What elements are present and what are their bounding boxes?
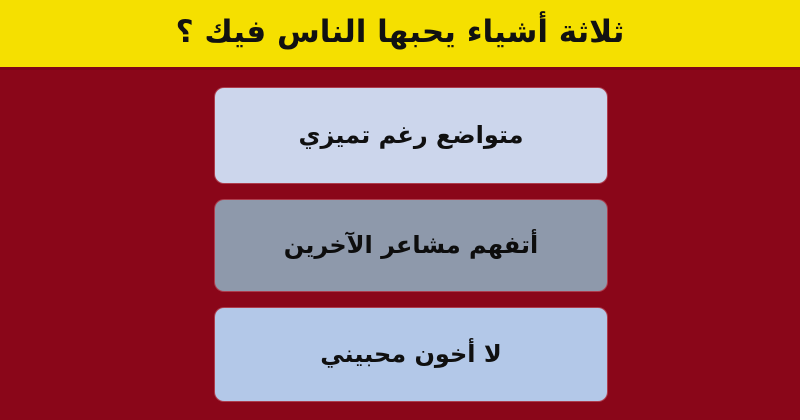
option-item-2[interactable]: أتفهم مشاعر الآخرين xyxy=(215,200,607,291)
options-list: متواضع رغم تميزي أتفهم مشاعر الآخرين لا … xyxy=(215,88,607,401)
option-label-3: لا أخون محبيني xyxy=(320,342,501,366)
header-divider xyxy=(0,67,800,70)
option-item-1[interactable]: متواضع رغم تميزي xyxy=(215,88,607,183)
page-title: ثلاثة أشياء يحبها الناس فيك ؟ xyxy=(176,17,625,48)
header-band: ثلاثة أشياء يحبها الناس فيك ؟ xyxy=(0,0,800,67)
option-item-3[interactable]: لا أخون محبيني xyxy=(215,308,607,401)
option-label-1: متواضع رغم تميزي xyxy=(298,123,523,147)
option-label-2: أتفهم مشاعر الآخرين xyxy=(284,233,538,257)
quiz-poster: ثلاثة أشياء يحبها الناس فيك ؟ متواضع رغم… xyxy=(0,0,800,420)
